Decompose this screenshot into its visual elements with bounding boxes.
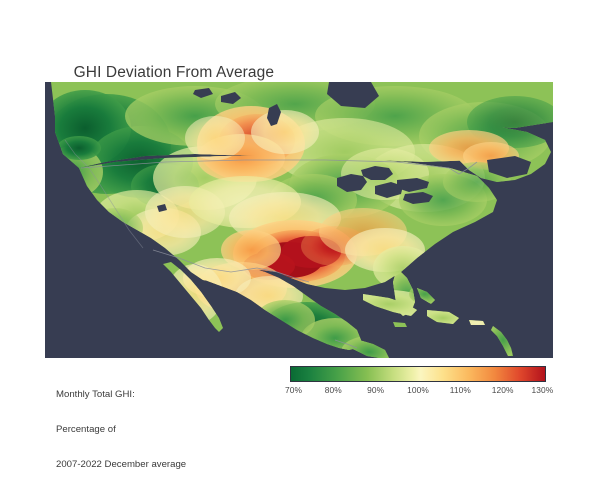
- colorbar-tick-labels: 70%80%90%100%110%120%130%: [290, 385, 546, 399]
- chart-page: GHI Deviation From Average December 2023…: [0, 0, 600, 449]
- colorbar-tick-130: 130%: [531, 385, 553, 395]
- caption-line-2: Percentage of: [56, 424, 186, 436]
- caption-line-1: Monthly Total GHI:: [56, 389, 186, 401]
- colorbar: 70%80%90%100%110%120%130%: [290, 366, 546, 399]
- colorbar-gradient: [290, 366, 546, 382]
- caption-line-3: 2007-2022 December average: [56, 459, 186, 471]
- map-panel[interactable]: S LCAST a DNV company: [45, 82, 553, 358]
- deviation-field: [45, 82, 553, 358]
- colorbar-tick-70: 70%: [285, 385, 302, 395]
- colorbar-tick-100: 100%: [407, 385, 429, 395]
- ghi-deviation-heatmap: [45, 82, 553, 358]
- legend-caption: Monthly Total GHI: Percentage of 2007-20…: [56, 366, 186, 494]
- colorbar-tick-80: 80%: [325, 385, 342, 395]
- title-line-1: GHI Deviation From Average: [74, 64, 274, 81]
- colorbar-tick-120: 120%: [492, 385, 514, 395]
- colorbar-tick-110: 110%: [450, 385, 471, 395]
- colorbar-tick-90: 90%: [367, 385, 384, 395]
